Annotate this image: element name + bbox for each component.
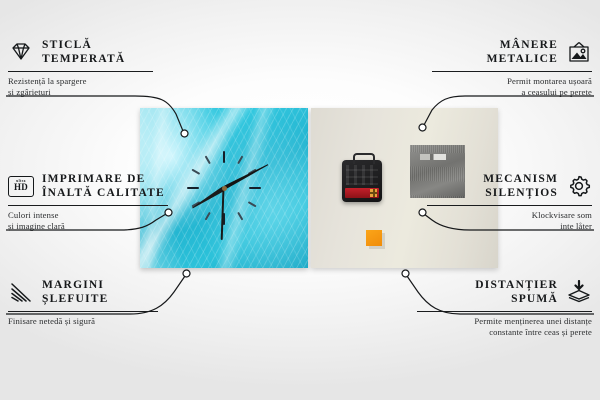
callout-polished-edges: MARGINI ȘLEFUITE Finisare netedă și sigu… [8, 278, 158, 327]
callout-foam-spacer: DISTANȚIER SPUMĂ Permite menținerea unei… [417, 278, 592, 338]
hanging-picture-frame-icon [566, 40, 592, 64]
callout-desc: Finisare netedă și sigură [8, 316, 158, 327]
callout-silent-mechanism: MECANISM SILENȚIOS Klockvisare som inte … [427, 172, 592, 232]
divider [432, 71, 592, 72]
ultra-hd-icon: ultra HD [8, 174, 34, 198]
mechanism-hook [353, 153, 375, 164]
divider [417, 311, 592, 312]
diagonal-lines-icon [8, 280, 34, 304]
divider [427, 205, 592, 206]
mechanism-texture [346, 165, 378, 185]
callout-title: STICLĂ TEMPERATĂ [42, 38, 125, 66]
callout-tempered-glass: STICLĂ TEMPERATĂ Rezistență la spargere … [8, 38, 153, 98]
hand-center-cap [222, 186, 227, 191]
callout-title: MÂNERE METALICE [487, 38, 558, 66]
callout-desc: Rezistență la spargere și zgârieturi [8, 76, 153, 98]
callout-title: DISTANȚIER SPUMĂ [475, 278, 558, 306]
divider [8, 311, 158, 312]
callout-metal-handles: MÂNERE METALICE Permit montarea ușoară a… [432, 38, 592, 98]
foam-spacer-pad [366, 230, 382, 246]
clock-dial [140, 108, 308, 268]
clock-front-panel [140, 108, 308, 268]
hour-hand [190, 186, 225, 210]
infographic-stage: STICLĂ TEMPERATĂ Rezistență la spargere … [0, 0, 600, 400]
quartz-mechanism-box [342, 160, 382, 202]
callout-desc: Permite menținerea unei distanțe constan… [417, 316, 592, 338]
diamond-icon [8, 40, 34, 64]
divider [8, 71, 153, 72]
callout-title: MARGINI ȘLEFUITE [42, 278, 108, 306]
press-down-pad-icon [566, 280, 592, 304]
callout-desc: Klockvisare som inte låter [427, 210, 592, 232]
callout-desc: Permit montarea ușoară a ceasului pe per… [432, 76, 592, 98]
gear-icon [566, 174, 592, 198]
callout-title: MECANISM SILENȚIOS [483, 172, 558, 200]
battery [345, 188, 379, 198]
